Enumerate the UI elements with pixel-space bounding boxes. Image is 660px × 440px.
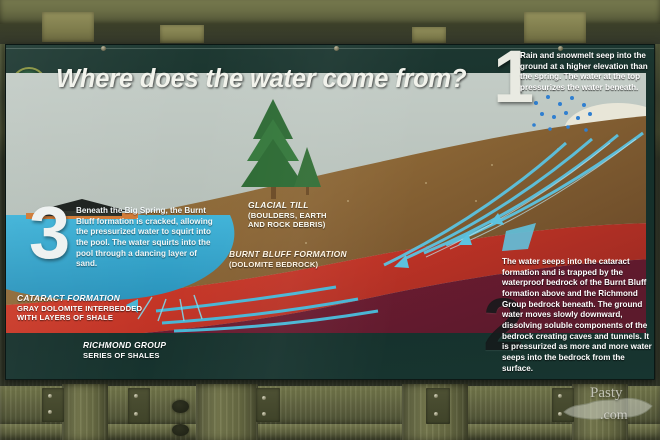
geo-label-cataract-line3: WITH LAYERS OF SHALE [17,313,142,323]
post-top-right [524,12,586,43]
post-top-mid [160,25,204,43]
bolt-6 [262,412,266,416]
bolt-1 [48,394,52,398]
page-title: Where does the water come from? [56,65,496,94]
geo-label-burnt-bluff-line1: BURNT BLUFF FORMATION [229,249,347,260]
sign-screw-mid [334,46,339,51]
bolt-10 [558,412,562,416]
bracket-1 [42,388,64,422]
bolt-5 [262,396,266,400]
geo-label-burnt-bluff-line2: (DOLOMITE BEDROCK) [229,260,347,270]
step-text-1: Rain and snowmelt seep into the ground a… [520,51,652,94]
bracket-4 [426,388,450,424]
bolt-2 [48,410,52,414]
bracket-3 [256,388,280,422]
photo-scene: Where does the water come from? 1 Rain a… [0,0,660,440]
geo-label-richmond-line2: SERIES OF SHALES [83,351,166,361]
geo-label-richmond: RICHMOND GROUP SERIES OF SHALES [83,340,166,360]
geo-label-glacial-till: GLACIAL TILL (BOULDERS, EARTH AND ROCK D… [248,200,327,230]
wood-knot-1 [172,400,189,413]
interpretive-sign-panel: Where does the water come from? 1 Rain a… [5,44,655,380]
geo-label-glacial-till-line3: AND ROCK DEBRIS) [248,220,327,230]
step-number-3: 3 [29,203,70,264]
geo-label-glacial-till-line2: (BOULDERS, EARTH [248,211,327,221]
wood-knot-2 [172,424,189,436]
geo-label-cataract-line2: GRAY DOLOMITE INTERBEDDED [17,304,142,314]
geo-label-cataract: CATARACT FORMATION GRAY DOLOMITE INTERBE… [17,293,142,323]
bracket-2 [128,388,150,424]
support-post-1 [62,384,108,440]
bracket-5 [552,388,574,422]
geo-label-burnt-bluff: BURNT BLUFF FORMATION (DOLOMITE BEDROCK) [229,249,347,269]
geo-label-richmond-line1: RICHMOND GROUP [83,340,166,351]
post-top-mid2 [412,27,446,43]
bolt-3 [134,394,138,398]
step-text-3: Beneath the Big Spring, the Burnt Bluff … [76,206,214,270]
bolt-9 [558,394,562,398]
step-text-2: The water seeps into the cataract format… [502,257,652,374]
bolt-8 [434,412,438,416]
support-post-4 [572,384,628,440]
geo-label-glacial-till-line1: GLACIAL TILL [248,200,327,211]
bolt-7 [434,394,438,398]
geo-label-cataract-line1: CATARACT FORMATION [17,293,142,304]
post-top-left [42,12,94,42]
support-post-2 [196,384,258,440]
sign-screw-left [101,46,106,51]
bolt-4 [134,412,138,416]
